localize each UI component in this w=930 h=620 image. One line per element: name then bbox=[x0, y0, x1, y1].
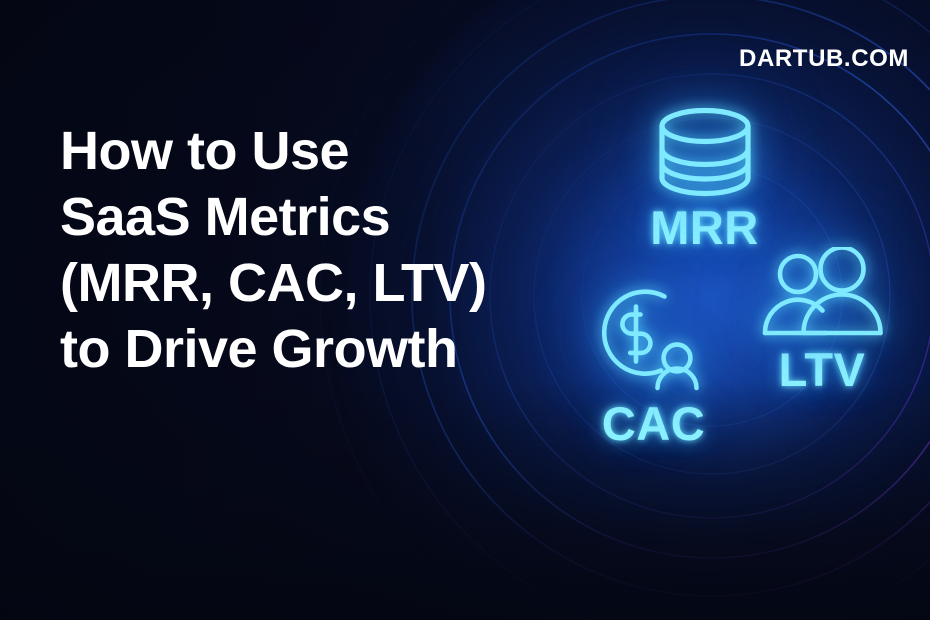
metric-cac-label: CAC bbox=[566, 400, 741, 447]
site-watermark: DARTUB.COM bbox=[739, 45, 909, 73]
metric-cac: CAC bbox=[566, 284, 741, 447]
title-line-3: (MRR, CAC, LTV) bbox=[60, 250, 530, 316]
title-line-1: How to Use bbox=[60, 118, 530, 184]
title-line-2: SaaS Metrics bbox=[60, 184, 530, 250]
metric-ltv-label: LTV bbox=[752, 346, 892, 393]
title-line-4: to Drive Growth bbox=[60, 316, 530, 382]
page-title: How to Use SaaS Metrics (MRR, CAC, LTV) … bbox=[60, 118, 530, 382]
two-people-icon bbox=[759, 247, 885, 343]
poster-canvas: DARTUB.COM How to Use SaaS Metrics (MRR,… bbox=[0, 0, 930, 620]
dollar-circle-person-icon bbox=[595, 284, 713, 396]
metric-mrr: MRR bbox=[597, 106, 812, 251]
database-cylinder-icon bbox=[653, 106, 757, 198]
metric-mrr-label: MRR bbox=[597, 204, 812, 251]
metric-ltv: LTV bbox=[752, 247, 892, 393]
